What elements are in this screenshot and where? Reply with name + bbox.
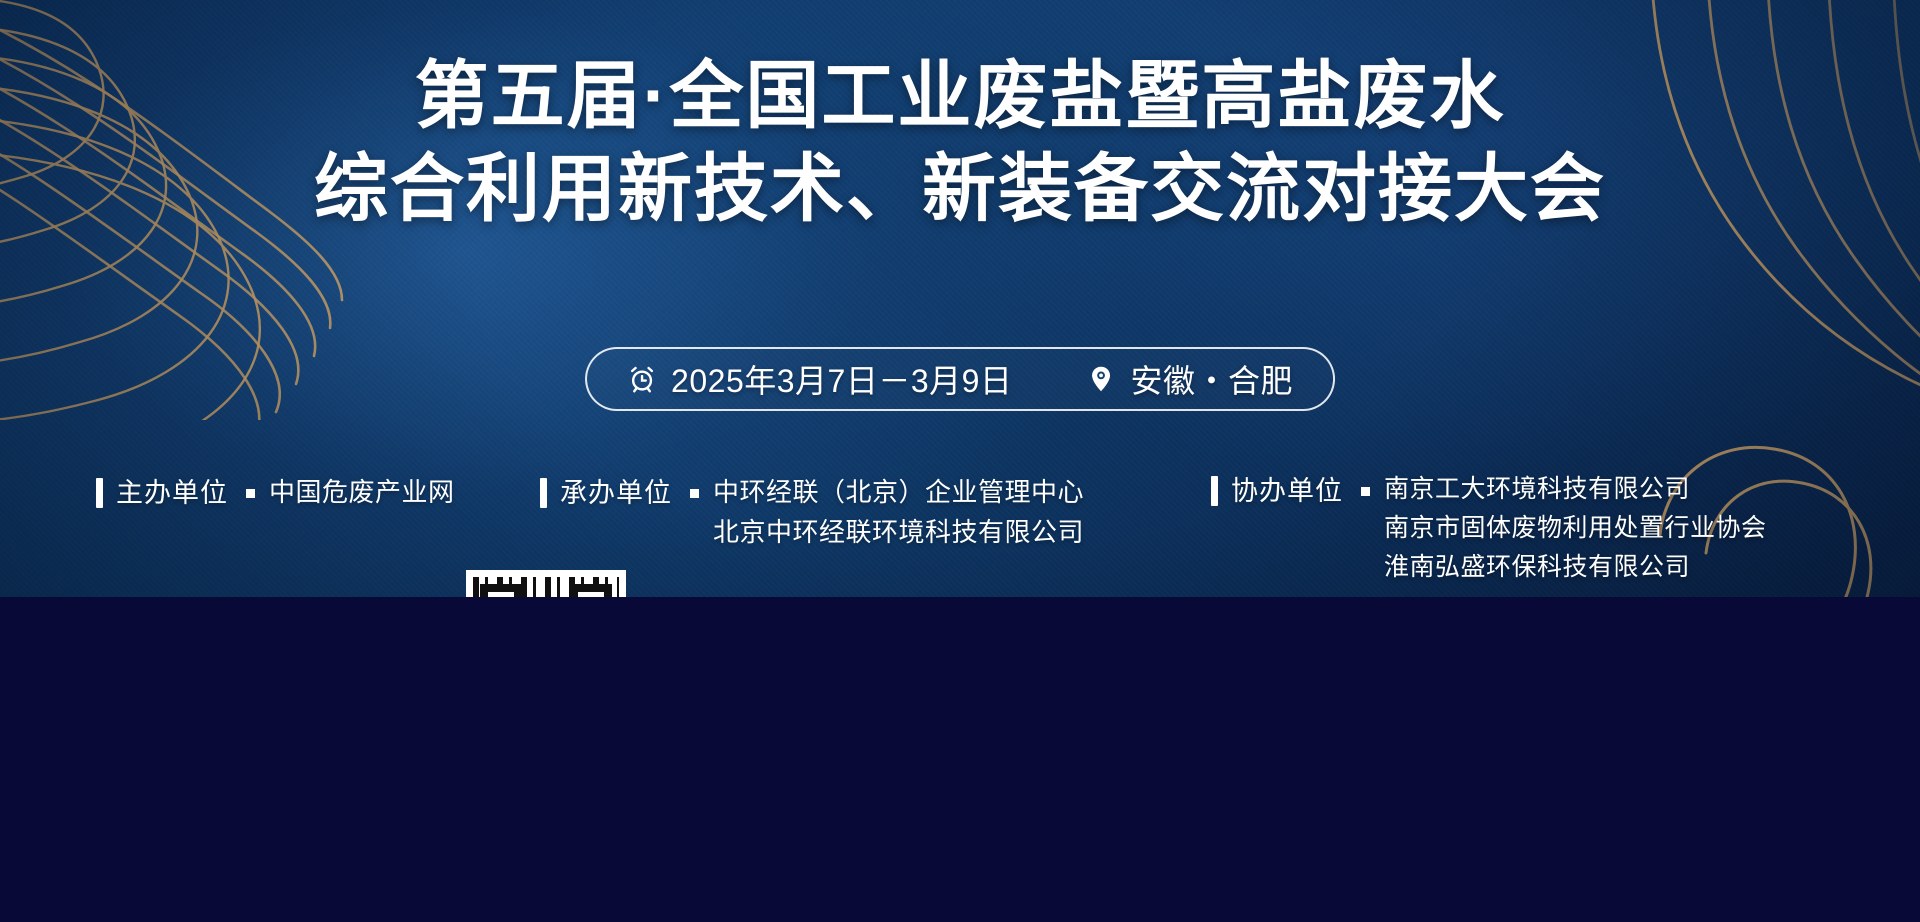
accent-bar-icon: [540, 478, 547, 508]
organizer-label: 承办单位: [560, 472, 672, 514]
organizer-group-organizer: 承办单位 中环经联（北京）企业管理中心 北京中环经联环境科技有限公司: [540, 472, 1084, 552]
organizers-section: 主办单位 中国危废产业网 承办单位 中环经联（北京）企业管理中心 北京中环经联环…: [0, 470, 1920, 597]
qr-finder-top-right: [570, 584, 612, 597]
event-date-item: 2025年3月7日－3月9日: [627, 356, 1012, 402]
title-line-2: 综合利用新技术、新装备交流对接大会: [0, 145, 1920, 232]
organizer-values: 南京工大环境科技有限公司 南京市固体废物利用处置行业协会 淮南弘盛环保科技有限公…: [1384, 470, 1767, 587]
conference-banner: 第五届·全国工业废盐暨高盐废水 综合利用新技术、新装备交流对接大会 2025年3…: [0, 0, 1920, 597]
organizer-value: 北京中环经联环境科技有限公司: [713, 512, 1084, 552]
organizer-value: 中国危废产业网: [269, 472, 455, 512]
event-date-text: 2025年3月7日－3月9日: [671, 356, 1012, 402]
event-meta-pill: 2025年3月7日－3月9日 安徽・合肥: [585, 347, 1335, 411]
organizer-group-host: 主办单位 中国危废产业网: [96, 472, 455, 514]
qr-finder-top-left: [480, 584, 522, 597]
organizer-label: 主办单位: [116, 472, 228, 514]
banner-title: 第五届·全国工业废盐暨高盐废水 综合利用新技术、新装备交流对接大会: [0, 52, 1920, 233]
accent-bar-icon: [1211, 476, 1218, 506]
alarm-clock-icon: [627, 364, 657, 394]
organizer-value: 南京市固体废物利用处置行业协会: [1384, 509, 1767, 548]
accent-bar-icon: [96, 478, 103, 508]
square-bullet-icon: [1361, 487, 1370, 496]
map-pin-icon: [1086, 364, 1116, 394]
page-root: 第五届·全国工业废盐暨高盐废水 综合利用新技术、新装备交流对接大会 2025年3…: [0, 0, 1920, 922]
page-background-lower: [0, 597, 1920, 922]
qr-code-icon[interactable]: [466, 570, 626, 597]
title-line-1: 第五届·全国工业废盐暨高盐废水: [0, 52, 1920, 139]
organizer-value: 南京工大环境科技有限公司: [1384, 470, 1767, 509]
organizer-values: 中环经联（北京）企业管理中心 北京中环经联环境科技有限公司: [713, 472, 1084, 552]
organizer-label: 协办单位: [1231, 470, 1343, 512]
organizer-values: 中国危废产业网: [269, 472, 455, 512]
event-location-text: 安徽・合肥: [1130, 356, 1293, 402]
square-bullet-icon: [246, 489, 255, 498]
organizer-value: 中环经联（北京）企业管理中心: [713, 472, 1084, 512]
organizer-group-coorganizer: 协办单位 南京工大环境科技有限公司 南京市固体废物利用处置行业协会 淮南弘盛环保…: [1211, 470, 1767, 587]
square-bullet-icon: [690, 489, 699, 498]
organizer-value: 淮南弘盛环保科技有限公司: [1384, 548, 1767, 587]
event-location-item: 安徽・合肥: [1086, 356, 1293, 402]
